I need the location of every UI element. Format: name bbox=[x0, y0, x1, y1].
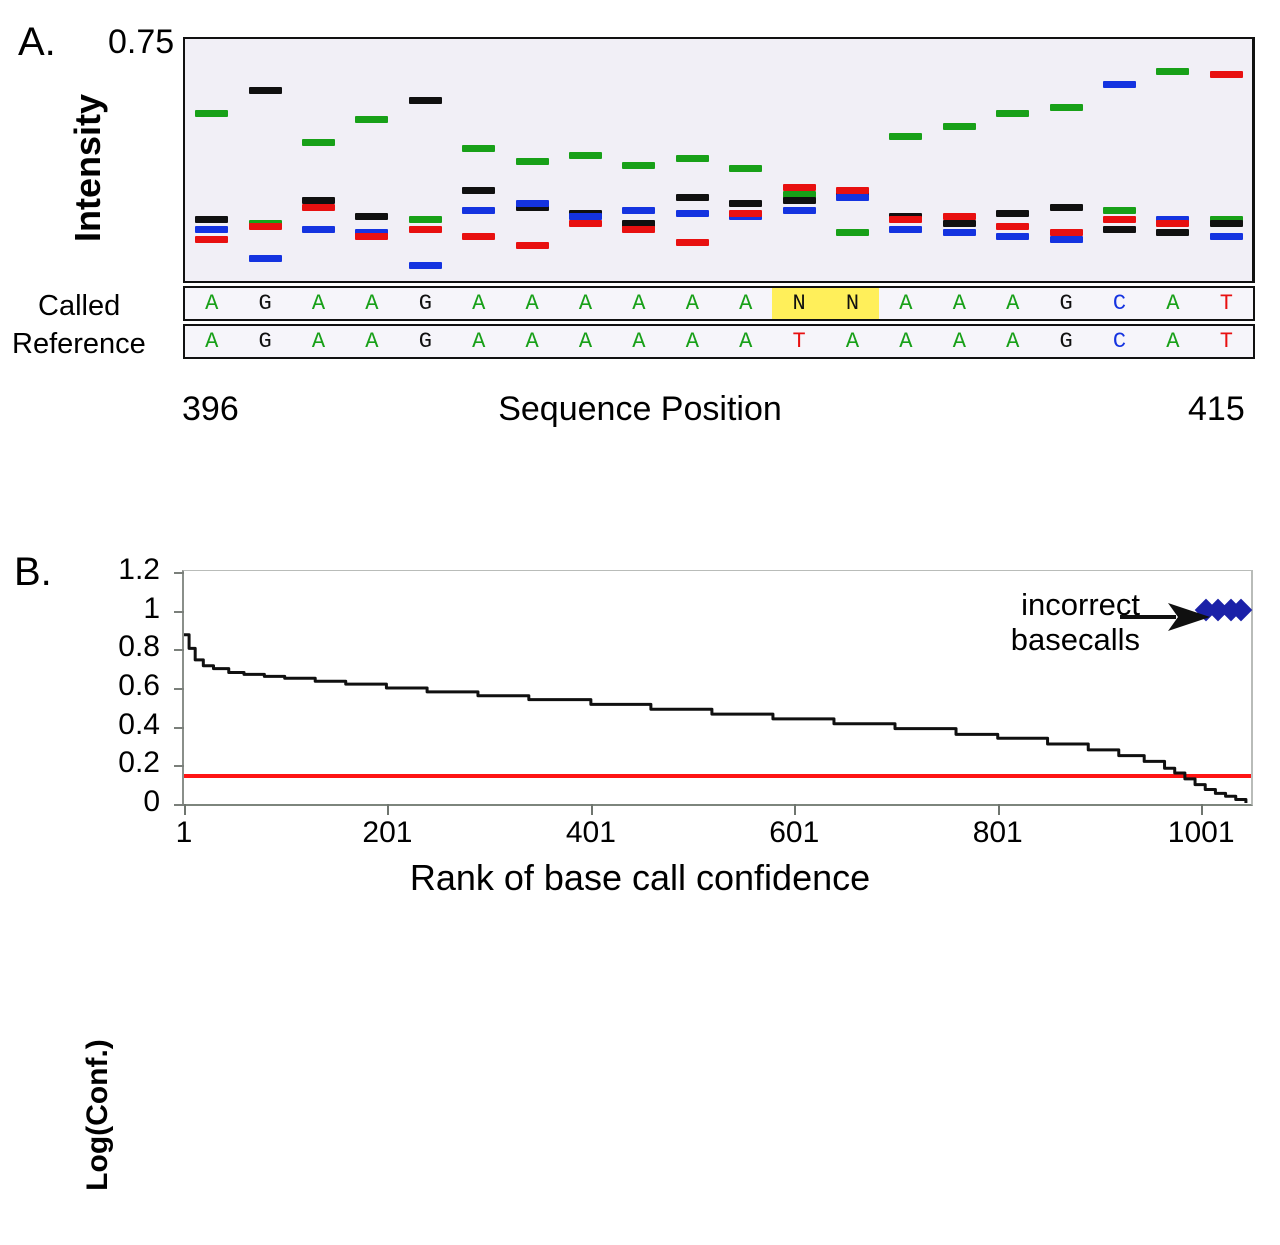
y-tick-label: 0 bbox=[40, 787, 160, 817]
reference-base-cell: A bbox=[505, 326, 558, 357]
called-base-cell: A bbox=[612, 288, 665, 319]
trace-column bbox=[772, 39, 825, 281]
trace-mark-a bbox=[409, 216, 442, 223]
figure-root: A. 0.75 Intensity Called AGAAGAAAAAANNAA… bbox=[0, 0, 1280, 931]
called-base-cell: A bbox=[879, 288, 932, 319]
trace-mark-g bbox=[409, 97, 442, 104]
trace-mark-c bbox=[836, 194, 869, 201]
trace-mark-c bbox=[516, 200, 549, 207]
trace-mark-t bbox=[1050, 229, 1083, 236]
trace-mark-a bbox=[996, 110, 1029, 117]
y-tick-label: 0.4 bbox=[40, 710, 160, 740]
trace-mark-t bbox=[836, 187, 869, 194]
x-tick-label: 201 bbox=[362, 818, 412, 848]
x-tick-mark bbox=[998, 804, 1000, 815]
sequence-position-end: 415 bbox=[1188, 392, 1245, 426]
y-tick-label: 0.2 bbox=[40, 748, 160, 778]
trace-mark-a bbox=[516, 158, 549, 165]
called-base-cell: A bbox=[1146, 288, 1199, 319]
trace-mark-g bbox=[1050, 204, 1083, 211]
trace-mark-c bbox=[1050, 236, 1083, 243]
trace-mark-c bbox=[676, 210, 709, 217]
trace-mark-t bbox=[462, 233, 495, 240]
trace-mark-t bbox=[409, 226, 442, 233]
trace-column bbox=[826, 39, 879, 281]
trace-column bbox=[1146, 39, 1199, 281]
y-tick-label: 1.2 bbox=[40, 555, 160, 585]
trace-mark-a bbox=[1103, 207, 1136, 214]
trace-mark-t bbox=[355, 233, 388, 240]
trace-column bbox=[559, 39, 612, 281]
reference-base-cell: A bbox=[452, 326, 505, 357]
trace-mark-a bbox=[302, 139, 335, 146]
trace-mark-a bbox=[462, 145, 495, 152]
called-base-cell: A bbox=[185, 288, 238, 319]
y-tick-mark bbox=[174, 649, 184, 651]
reference-base-cell: A bbox=[612, 326, 665, 357]
trace-mark-a bbox=[1050, 104, 1083, 111]
trace-mark-t bbox=[1103, 216, 1136, 223]
trace-column bbox=[1093, 39, 1146, 281]
trace-mark-c bbox=[1103, 81, 1136, 88]
called-base-cell: A bbox=[933, 288, 986, 319]
trace-mark-t bbox=[302, 204, 335, 211]
trace-column bbox=[933, 39, 986, 281]
chromatogram-trace-panel bbox=[183, 37, 1255, 283]
sequence-position-title: Sequence Position bbox=[0, 392, 1280, 426]
reference-base-cell: A bbox=[933, 326, 986, 357]
trace-mark-t bbox=[943, 213, 976, 220]
trace-mark-g bbox=[783, 197, 816, 204]
called-base-cell: C bbox=[1093, 288, 1146, 319]
trace-column bbox=[292, 39, 345, 281]
trace-mark-c bbox=[249, 255, 282, 262]
panel-a-letter: A. bbox=[18, 22, 56, 62]
trace-mark-c bbox=[302, 226, 335, 233]
trace-mark-t bbox=[729, 210, 762, 217]
trace-mark-a bbox=[569, 152, 602, 159]
x-tick-label: 1001 bbox=[1168, 818, 1235, 848]
trace-mark-c bbox=[943, 229, 976, 236]
x-tick-mark bbox=[591, 804, 593, 815]
trace-column bbox=[185, 39, 238, 281]
y-tick-mark bbox=[174, 727, 184, 729]
x-tick-mark bbox=[1201, 804, 1203, 815]
y-tick-mark bbox=[174, 572, 184, 574]
intensity-axis-title: Intensity bbox=[70, 58, 106, 278]
trace-mark-t bbox=[1156, 220, 1189, 227]
trace-mark-t bbox=[889, 216, 922, 223]
trace-mark-g bbox=[729, 200, 762, 207]
called-base-cell: A bbox=[719, 288, 772, 319]
trace-mark-c bbox=[409, 262, 442, 269]
x-tick-mark bbox=[184, 804, 186, 815]
called-bases-row: AGAAGAAAAAANNAAAGCAT bbox=[183, 286, 1255, 321]
called-base-cell: A bbox=[505, 288, 558, 319]
y-tick-label: 1 bbox=[40, 594, 160, 624]
trace-mark-c bbox=[462, 207, 495, 214]
intensity-axis-max-label: 0.75 bbox=[108, 25, 174, 59]
x-tick-mark bbox=[387, 804, 389, 815]
y-tick-mark bbox=[174, 611, 184, 613]
trace-mark-g bbox=[996, 210, 1029, 217]
called-base-cell: N bbox=[826, 288, 879, 319]
trace-column bbox=[452, 39, 505, 281]
trace-mark-g bbox=[462, 187, 495, 194]
trace-mark-t bbox=[622, 226, 655, 233]
trace-mark-t bbox=[249, 223, 282, 230]
trace-mark-c bbox=[195, 226, 228, 233]
trace-mark-a bbox=[889, 133, 922, 140]
x-tick-label: 401 bbox=[566, 818, 616, 848]
reference-base-cell: A bbox=[345, 326, 398, 357]
trace-mark-c bbox=[783, 207, 816, 214]
called-base-cell: A bbox=[666, 288, 719, 319]
trace-mark-t bbox=[516, 242, 549, 249]
reference-base-cell: A bbox=[879, 326, 932, 357]
reference-base-cell: A bbox=[826, 326, 879, 357]
reference-base-cell: A bbox=[986, 326, 1039, 357]
trace-mark-g bbox=[676, 194, 709, 201]
called-base-cell: G bbox=[238, 288, 291, 319]
trace-mark-c bbox=[622, 207, 655, 214]
trace-mark-c bbox=[889, 226, 922, 233]
trace-mark-t bbox=[1210, 71, 1243, 78]
right-arrow-icon bbox=[1118, 600, 1214, 634]
called-row-label: Called bbox=[38, 292, 120, 321]
trace-mark-t bbox=[996, 223, 1029, 230]
y-tick-label: 0.6 bbox=[40, 671, 160, 701]
reference-base-cell: A bbox=[292, 326, 345, 357]
reference-base-cell: T bbox=[772, 326, 825, 357]
y-tick-label: 0.8 bbox=[40, 632, 160, 662]
trace-column bbox=[238, 39, 291, 281]
x-tick-mark bbox=[794, 804, 796, 815]
y-tick-mark bbox=[174, 804, 184, 806]
reference-base-cell: A bbox=[719, 326, 772, 357]
trace-column bbox=[1200, 39, 1253, 281]
trace-mark-c bbox=[1210, 233, 1243, 240]
trace-mark-a bbox=[622, 162, 655, 169]
x-tick-label: 601 bbox=[769, 818, 819, 848]
panel-b: B. Log(Conf.) incorrect basecalls Rank o… bbox=[0, 500, 1280, 931]
reference-base-cell: G bbox=[399, 326, 452, 357]
trace-mark-g bbox=[1103, 226, 1136, 233]
trace-mark-a bbox=[836, 229, 869, 236]
trace-column bbox=[879, 39, 932, 281]
trace-mark-g bbox=[1210, 220, 1243, 227]
trace-mark-g bbox=[355, 213, 388, 220]
trace-column bbox=[666, 39, 719, 281]
trace-mark-a bbox=[355, 116, 388, 123]
reference-base-cell: G bbox=[238, 326, 291, 357]
reference-base-cell: A bbox=[559, 326, 612, 357]
panel-a: A. 0.75 Intensity Called AGAAGAAAAAANNAA… bbox=[0, 0, 1280, 440]
trace-column bbox=[345, 39, 398, 281]
logconf-axis-title: Log(Conf.) bbox=[83, 985, 113, 1245]
x-tick-label: 801 bbox=[973, 818, 1023, 848]
trace-mark-g bbox=[943, 220, 976, 227]
trace-column bbox=[719, 39, 772, 281]
called-base-cell: A bbox=[559, 288, 612, 319]
called-base-cell: A bbox=[345, 288, 398, 319]
called-base-cell: G bbox=[1039, 288, 1092, 319]
reference-base-cell: T bbox=[1200, 326, 1253, 357]
reference-base-cell: C bbox=[1093, 326, 1146, 357]
reference-row-label: Reference bbox=[12, 330, 146, 359]
reference-base-cell: A bbox=[666, 326, 719, 357]
reference-base-cell: A bbox=[1146, 326, 1199, 357]
trace-mark-c bbox=[996, 233, 1029, 240]
called-base-cell: A bbox=[452, 288, 505, 319]
trace-column bbox=[986, 39, 1039, 281]
trace-mark-t bbox=[569, 220, 602, 227]
trace-mark-a bbox=[195, 110, 228, 117]
y-tick-mark bbox=[174, 765, 184, 767]
y-tick-mark bbox=[174, 688, 184, 690]
called-base-cell: A bbox=[986, 288, 1039, 319]
trace-mark-t bbox=[783, 184, 816, 191]
trace-mark-a bbox=[943, 123, 976, 130]
x-tick-label: 1 bbox=[176, 818, 193, 848]
called-base-cell: N bbox=[772, 288, 825, 319]
trace-mark-g bbox=[249, 87, 282, 94]
trace-mark-a bbox=[1156, 68, 1189, 75]
trace-mark-g bbox=[195, 216, 228, 223]
called-base-cell: T bbox=[1200, 288, 1253, 319]
trace-column bbox=[612, 39, 665, 281]
trace-column bbox=[505, 39, 558, 281]
trace-mark-t bbox=[195, 236, 228, 243]
called-base-cell: A bbox=[292, 288, 345, 319]
trace-column bbox=[1039, 39, 1092, 281]
trace-mark-a bbox=[676, 155, 709, 162]
called-base-cell: G bbox=[399, 288, 452, 319]
trace-mark-a bbox=[729, 165, 762, 172]
trace-column bbox=[399, 39, 452, 281]
trace-mark-g bbox=[1156, 229, 1189, 236]
reference-base-cell: G bbox=[1039, 326, 1092, 357]
reference-bases-row: AGAAGAAAAAATAAAAGCAT bbox=[183, 324, 1255, 359]
rank-axis-title: Rank of base call confidence bbox=[0, 860, 1280, 896]
reference-base-cell: A bbox=[185, 326, 238, 357]
trace-mark-t bbox=[676, 239, 709, 246]
